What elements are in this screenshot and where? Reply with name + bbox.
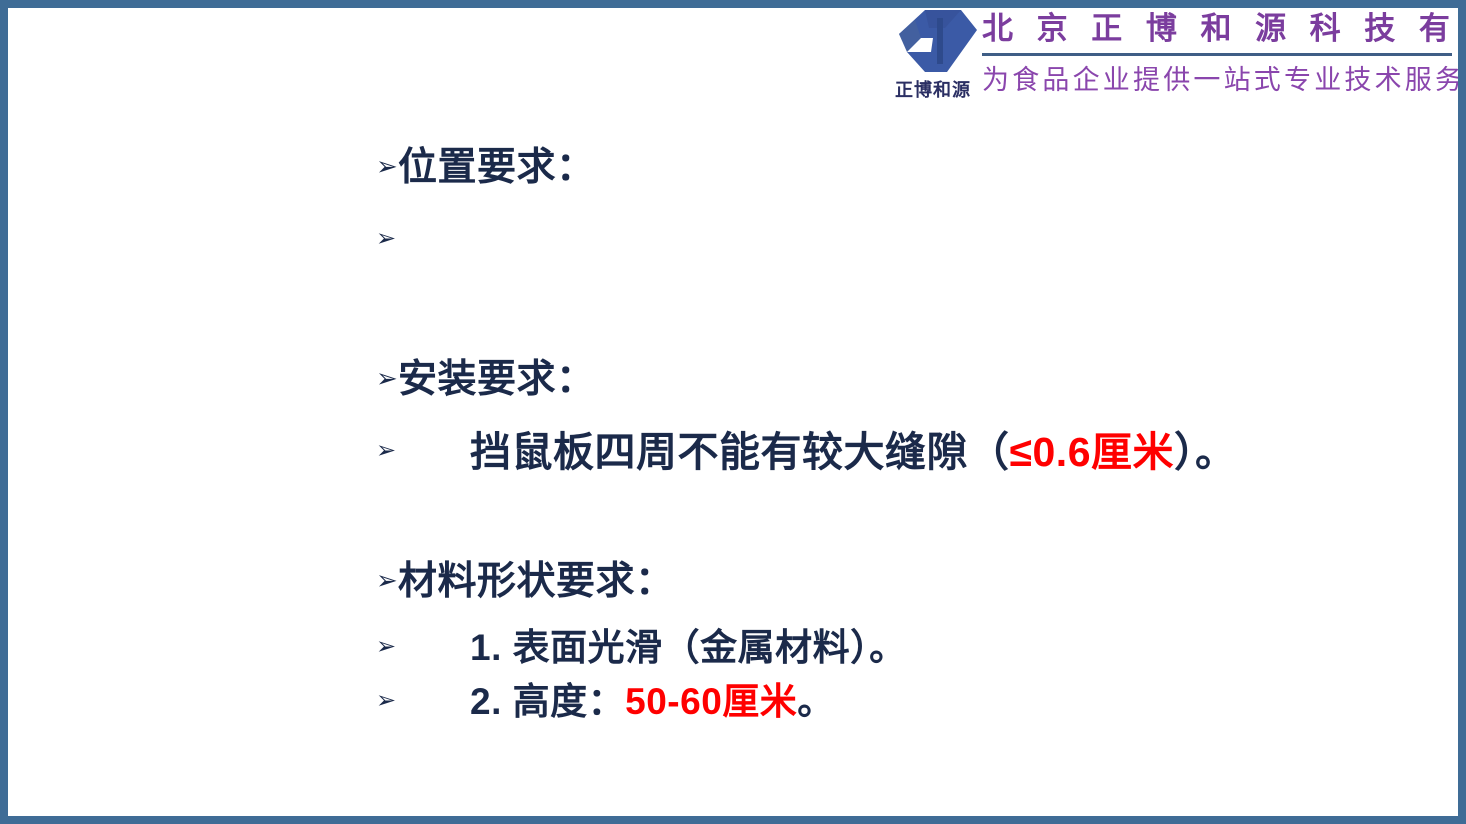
bullet-arrow-icon: ➢ (376, 634, 396, 658)
bullet-item-row: ➢ 2. 高度：50-60厘米。 (0, 676, 1466, 730)
bullet-arrow-icon: ➢ (376, 438, 396, 462)
slide-border-top (8, 0, 1466, 8)
slide-border-left (0, 0, 8, 816)
section-heading: 安装要求： (398, 352, 596, 408)
section-position-requirements: ➢ 位置要求： ➢ (0, 140, 1466, 280)
section-installation-requirements: ➢ 安装要求： ➢ 挡鼠板四周不能有较大缝隙（≤0.6厘米）。 (0, 352, 1466, 492)
bullet-arrow-icon: ➢ (376, 366, 398, 392)
section-heading-row: ➢ 位置要求： (0, 140, 1466, 202)
section-material-shape-requirements: ➢ 材料形状要求： ➢ 1. 表面光滑（金属材料）。 ➢ 2. 高度：50-60… (0, 554, 1466, 730)
header-divider-rule (982, 53, 1452, 56)
bullet-arrow-icon: ➢ (376, 568, 398, 594)
bullet-item-text-prefix: 挡鼠板四周不能有较大缝隙（ (470, 429, 1010, 475)
spacer (0, 492, 1466, 554)
brand-text-block: 北 京 正 博 和 源 科 技 有 限 公 司 为食品企业提供一站式专业技术服务 (982, 6, 1460, 102)
section-heading: 位置要求： (398, 140, 596, 196)
bullet-item-text: 2. 高度：50-60厘米。 (470, 676, 835, 728)
spacer (0, 280, 1466, 352)
slide-border-bottom (0, 816, 1458, 824)
slide: 正博和源 北 京 正 博 和 源 科 技 有 限 公 司 为食品企业提供一站式专… (0, 0, 1466, 824)
bullet-item-text-suffix: 。 (797, 681, 835, 722)
bullet-item-row: ➢ 1. 表面光滑（金属材料）。 (0, 622, 1466, 676)
logo-wordmark: 正博和源 (887, 76, 979, 102)
bullet-arrow-icon: ➢ (376, 688, 396, 712)
slide-body: ➢ 位置要求： ➢ ➢ 安装要求： ➢ 挡鼠板四周不能有较大缝隙（≤0.6厘米）… (0, 140, 1466, 730)
company-logo-icon (885, 8, 981, 74)
slide-header: 正博和源 北 京 正 博 和 源 科 技 有 限 公 司 为食品企业提供一站式专… (885, 6, 1460, 114)
bullet-item-row: ➢ (0, 208, 1466, 280)
section-heading-row: ➢ 材料形状要求： (0, 554, 1466, 616)
highlight-measurement: 50-60厘米 (625, 681, 797, 722)
bullet-item-text: 挡鼠板四周不能有较大缝隙（≤0.6厘米）。 (470, 420, 1237, 484)
bullet-item-text-main: 1. 表面光滑（金属材料）。 (470, 627, 907, 668)
bullet-item-text-suffix: ）。 (1174, 429, 1237, 475)
bullet-arrow-icon: ➢ (376, 226, 396, 250)
company-name: 北 京 正 博 和 源 科 技 有 限 公 司 (982, 6, 1460, 52)
section-heading-row: ➢ 安装要求： (0, 352, 1466, 414)
bullet-item-text-prefix: 2. 高度： (470, 681, 625, 722)
highlight-measurement: ≤0.6厘米 (1010, 429, 1175, 475)
company-tagline: 为食品企业提供一站式专业技术服务 (982, 58, 1460, 102)
section-heading: 材料形状要求： (398, 554, 675, 610)
bullet-item-row: ➢ 挡鼠板四周不能有较大缝隙（≤0.6厘米）。 (0, 420, 1466, 492)
slide-border-right (1458, 8, 1466, 824)
bullet-item-text: 1. 表面光滑（金属材料）。 (470, 622, 907, 674)
bullet-arrow-icon: ➢ (376, 154, 398, 180)
